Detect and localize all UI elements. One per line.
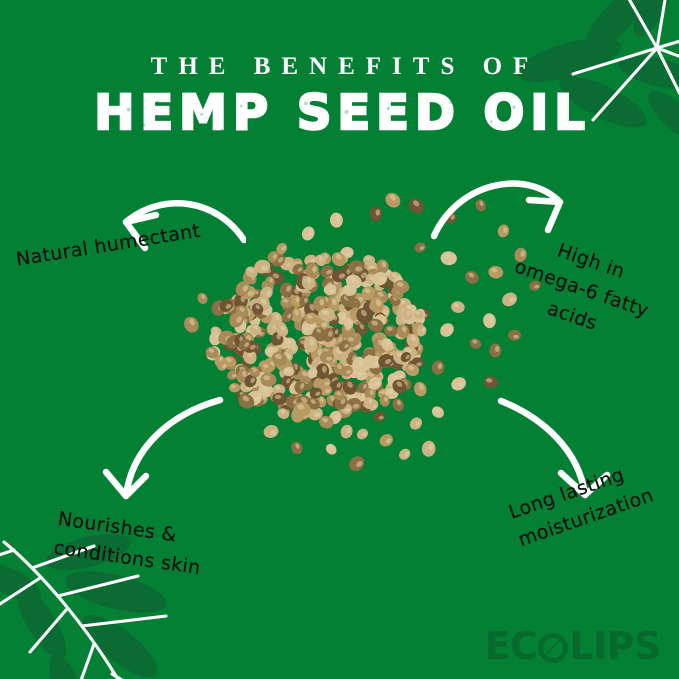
wordmark-wrapper: HEMP SEED OIL — [88, 88, 591, 139]
callout-long-lasting-moisturization: Long lasting moisturization — [505, 443, 679, 555]
callout-natural-humectant: Natural humectant — [14, 217, 202, 275]
brand-text-part1: EC — [485, 627, 538, 665]
arrow-to-nourishes — [100, 392, 240, 522]
infographic-poster: THE BENEFITS OF HEMP SEED OIL — [0, 0, 679, 679]
headline-kicker: THE BENEFITS OF — [0, 54, 679, 79]
leaf-in-o-icon — [538, 631, 568, 661]
callout-nourishes-conditions-skin: Nourishes & conditions skin — [52, 505, 238, 587]
brand-logo: EC LIPS — [485, 627, 661, 665]
hemp-seed-pile-image — [150, 185, 550, 485]
brand-text-part2: LIPS — [569, 627, 661, 665]
headline-wordmark: HEMP SEED OIL — [88, 88, 591, 139]
callout-omega-6: High in omega-6 fatty acids — [492, 222, 671, 356]
brand-wordmark: EC LIPS — [485, 627, 661, 665]
headline-block: THE BENEFITS OF HEMP SEED OIL — [0, 54, 679, 139]
